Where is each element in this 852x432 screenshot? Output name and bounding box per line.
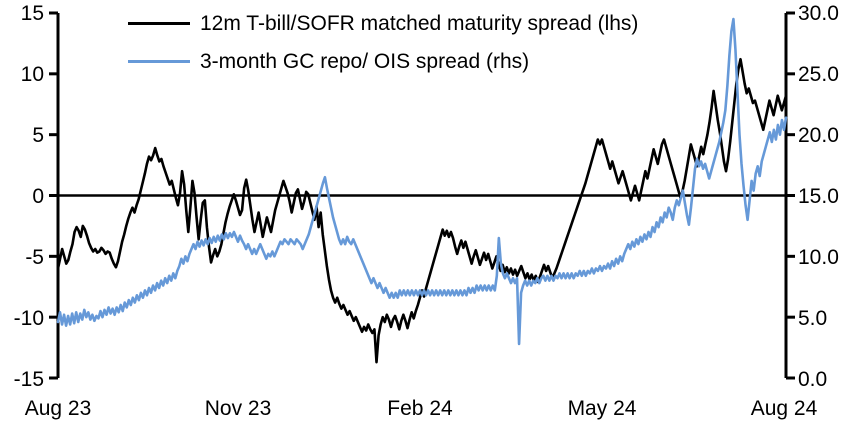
plot-area <box>0 0 852 432</box>
series-layer <box>58 19 786 362</box>
chart-container: 15 10 5 0 -5 -10 -15 30.0 25.0 20.0 15.0… <box>0 0 852 432</box>
series-line-tbill-sofr <box>58 59 786 362</box>
